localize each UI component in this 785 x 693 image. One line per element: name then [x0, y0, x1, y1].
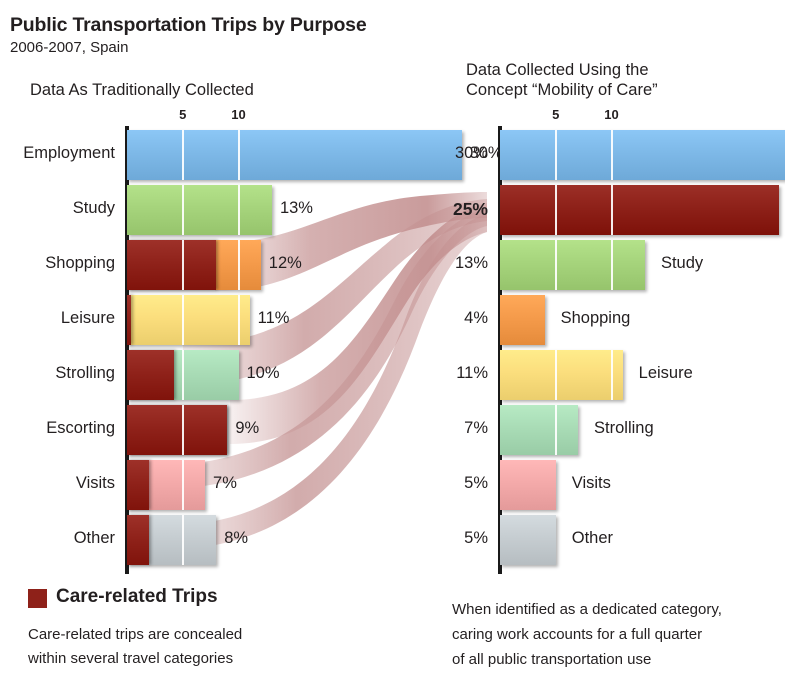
bar-fill	[500, 405, 578, 455]
category-label-shopping: Shopping	[561, 309, 631, 328]
value-label-visits: 5%	[410, 474, 488, 493]
bar-fill	[500, 240, 645, 290]
category-label-other: Other	[572, 529, 613, 548]
bar-shopping[interactable]	[500, 295, 545, 345]
bar-visits[interactable]	[500, 460, 556, 510]
right-summary-note: When identified as a dedicated category,…	[452, 597, 782, 672]
bar-study[interactable]	[500, 240, 645, 290]
care-legend-title: Care-related Trips	[56, 586, 218, 608]
axis-tick-10: 10	[597, 107, 627, 122]
bar-fill	[500, 350, 623, 400]
care-legend-note-line2: within several travel categories	[28, 647, 358, 671]
category-label-leisure: Leisure	[639, 364, 693, 383]
right-chart: 510Employment30%Caring Work25%Study13%Sh…	[0, 0, 785, 570]
category-label-visits: Visits	[572, 474, 611, 493]
care-legend-note-line1: Care-related trips are concealed	[28, 623, 358, 647]
bar-fill	[500, 515, 556, 565]
bar-other[interactable]	[500, 515, 556, 565]
category-label-strolling: Strolling	[594, 419, 654, 438]
bar-fill	[500, 295, 545, 345]
value-label-shopping: 4%	[410, 309, 488, 328]
category-label-study: Study	[661, 254, 703, 273]
value-label-caring-work: 25%	[410, 199, 488, 220]
value-label-employment: 30%	[410, 144, 488, 163]
bar-strolling[interactable]	[500, 405, 578, 455]
right-summary-note-line3: of all public transportation use	[452, 647, 782, 672]
right-summary-note-line2: caring work accounts for a full quarter	[452, 622, 782, 647]
bar-fill	[500, 185, 779, 235]
value-label-strolling: 7%	[410, 419, 488, 438]
care-legend-swatch	[28, 589, 47, 608]
axis-tick-5: 5	[541, 107, 571, 122]
bar-employment[interactable]	[500, 130, 785, 180]
right-summary-note-line1: When identified as a dedicated category,	[452, 597, 782, 622]
infographic-root: Public Transportation Trips by Purpose 2…	[0, 0, 785, 693]
care-legend-note: Care-related trips are concealed within …	[28, 623, 358, 671]
value-label-leisure: 11%	[410, 364, 488, 383]
value-label-study: 13%	[410, 254, 488, 273]
bar-leisure[interactable]	[500, 350, 623, 400]
bar-fill	[500, 460, 556, 510]
bar-caring-work[interactable]	[500, 185, 779, 235]
bar-fill	[500, 130, 785, 180]
value-label-other: 5%	[410, 529, 488, 548]
